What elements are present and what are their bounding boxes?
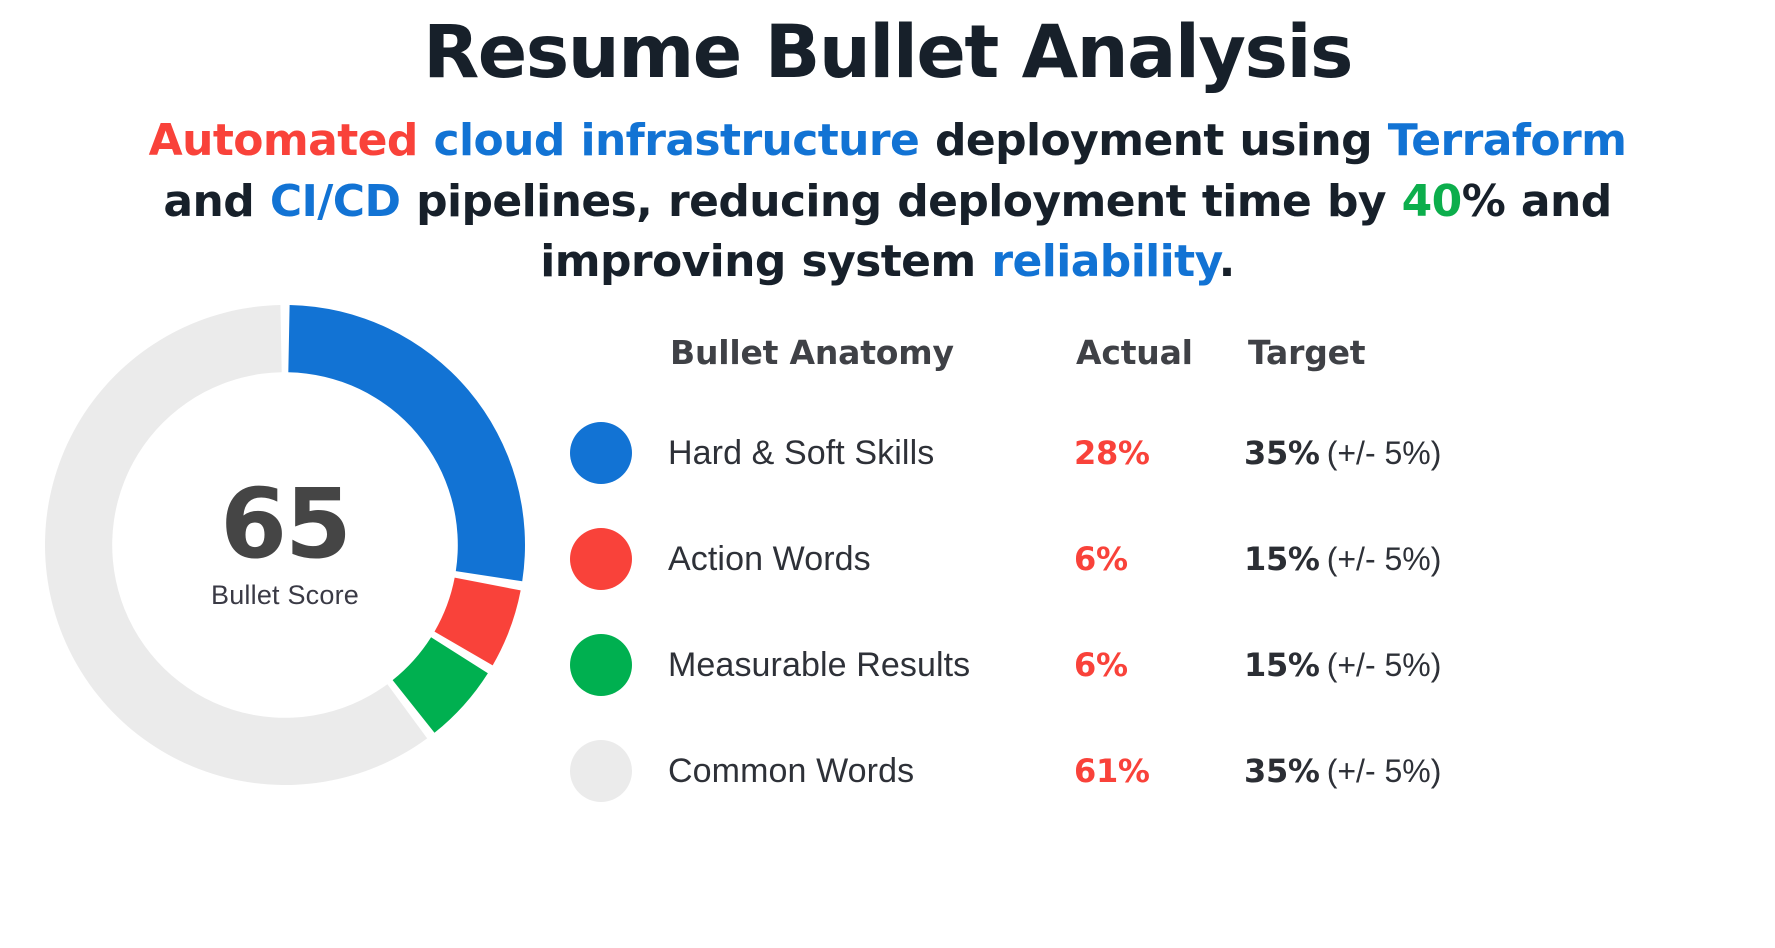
subtitle-token-improving-system: improving system: [540, 236, 975, 287]
subtitle-token-forty: 40: [1402, 176, 1462, 227]
subtitle-token-deployment-using: deployment using: [935, 115, 1372, 166]
resume-bullet-analysis-page: Resume Bullet Analysis Automated cloud i…: [0, 0, 1775, 948]
subtitle-token-pipelines-phrase: pipelines, reducing deployment time by: [416, 176, 1386, 227]
row-color-cell: [570, 740, 668, 802]
analysis-body: 65 Bullet Score Bullet Anatomy Actual Ta…: [0, 293, 1775, 824]
row-category-name: Hard & Soft Skills: [668, 434, 1074, 473]
row-color-cell: [570, 634, 668, 696]
subtitle-token-cloud-infrastructure: cloud infrastructure: [434, 115, 920, 166]
row-actual-value: 6%: [1074, 646, 1244, 684]
row-category-name: Action Words: [668, 540, 1074, 579]
legend-dot-icon: [570, 634, 632, 696]
table-header-row: Bullet Anatomy Actual Target: [570, 333, 1775, 372]
row-target-cell: 35%(+/- 5%): [1244, 434, 1775, 472]
table-row: Action Words6%15%(+/- 5%): [570, 506, 1775, 612]
row-target-tolerance: (+/- 5%): [1327, 647, 1442, 683]
row-target-cell: 15%(+/- 5%): [1244, 540, 1775, 578]
subtitle-line-1: Automated cloud infrastructure deploymen…: [149, 115, 1627, 166]
bullet-subtitle: Automated cloud infrastructure deploymen…: [0, 89, 1775, 293]
row-actual-value: 6%: [1074, 540, 1244, 578]
row-target-value: 15%: [1244, 646, 1320, 684]
subtitle-token-automated: Automated: [149, 115, 418, 166]
bullet-score-label: Bullet Score: [211, 580, 359, 611]
donut-chart-container: 65 Bullet Score: [0, 303, 560, 823]
row-target-tolerance: (+/- 5%): [1327, 541, 1442, 577]
subtitle-token-cicd: CI/CD: [270, 176, 401, 227]
donut-center-readout: 65 Bullet Score: [35, 295, 535, 795]
subtitle-line-3: improving system reliability.: [540, 236, 1235, 287]
bullet-score-value: 65: [220, 479, 350, 570]
column-header-target: Target: [1244, 333, 1775, 372]
row-category-name: Common Words: [668, 752, 1074, 791]
bullet-score-donut: 65 Bullet Score: [35, 295, 535, 795]
row-target-value: 15%: [1244, 540, 1320, 578]
subtitle-token-terraform: Terraform: [1388, 115, 1627, 166]
subtitle-line-2: and CI/CD pipelines, reducing deployment…: [163, 176, 1611, 227]
row-target-tolerance: (+/- 5%): [1327, 753, 1442, 789]
bullet-anatomy-table: Bullet Anatomy Actual Target Hard & Soft…: [560, 303, 1775, 824]
legend-dot-icon: [570, 528, 632, 590]
subtitle-token-period: .: [1219, 236, 1235, 287]
legend-dot-icon: [570, 422, 632, 484]
row-color-cell: [570, 528, 668, 590]
subtitle-token-reliability: reliability: [991, 236, 1218, 287]
subtitle-token-and: and: [163, 176, 254, 227]
table-row: Hard & Soft Skills28%35%(+/- 5%): [570, 400, 1775, 506]
table-body: Hard & Soft Skills28%35%(+/- 5%)Action W…: [570, 400, 1775, 824]
row-actual-value: 28%: [1074, 434, 1244, 472]
row-color-cell: [570, 422, 668, 484]
row-category-name: Measurable Results: [668, 646, 1074, 685]
legend-dot-icon: [570, 740, 632, 802]
page-title: Resume Bullet Analysis: [0, 0, 1775, 89]
column-header-actual: Actual: [1074, 333, 1244, 372]
row-target-tolerance: (+/- 5%): [1327, 435, 1442, 471]
row-target-cell: 35%(+/- 5%): [1244, 752, 1775, 790]
row-actual-value: 61%: [1074, 752, 1244, 790]
row-target-cell: 15%(+/- 5%): [1244, 646, 1775, 684]
subtitle-token-percent-and: % and: [1462, 176, 1612, 227]
row-target-value: 35%: [1244, 752, 1320, 790]
table-row: Common Words61%35%(+/- 5%): [570, 718, 1775, 824]
row-target-value: 35%: [1244, 434, 1320, 472]
table-row: Measurable Results6%15%(+/- 5%): [570, 612, 1775, 718]
column-header-anatomy: Bullet Anatomy: [668, 333, 1074, 372]
